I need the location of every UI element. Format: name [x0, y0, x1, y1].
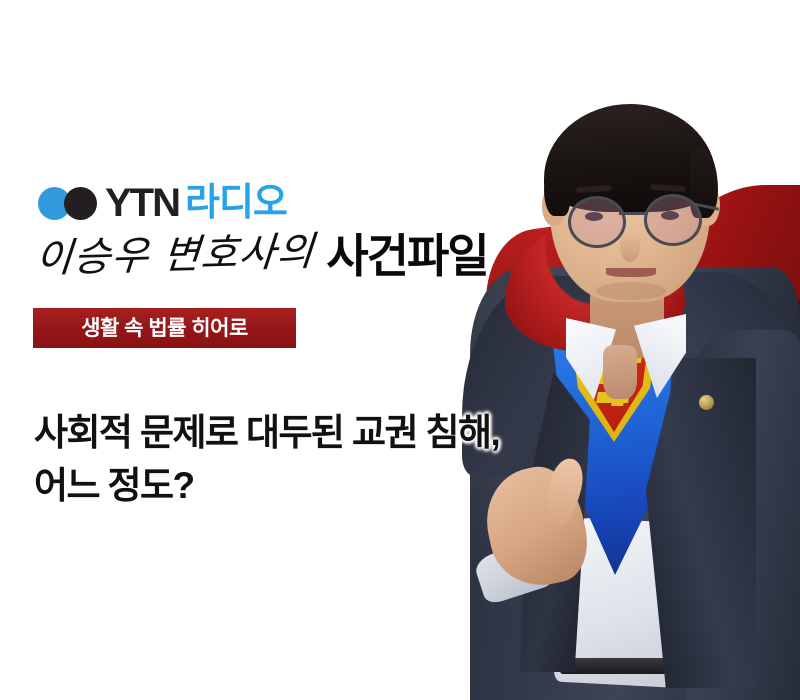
program-title-script: 이승우 변호사의: [34, 232, 316, 279]
tagline-badge-label: 생활 속 법률 히어로: [81, 318, 248, 339]
program-title: 이승우 변호사의 사건파일: [34, 233, 488, 279]
headline: 사회적 문제로 대두된 교권 침해, 어느 정도?: [34, 407, 554, 512]
logo-circle-dark-icon: [64, 187, 97, 220]
belt: [560, 658, 680, 674]
nose: [620, 232, 640, 262]
logo-wordmark-radio: 라디오: [185, 184, 287, 222]
tagline-badge: 생활 속 법률 히어로: [33, 308, 296, 348]
glasses-lens-left: [568, 196, 626, 248]
mouth: [606, 268, 656, 277]
glasses-bridge: [619, 212, 645, 215]
headline-line-2: 어느 정도?: [34, 460, 554, 513]
subject-photo: [400, 0, 800, 700]
hair-side-left: [544, 150, 570, 216]
lapel-pin: [699, 395, 714, 410]
logo-wordmark-ytn: YTN: [105, 183, 179, 223]
headline-line-1: 사회적 문제로 대두된 교권 침해,: [34, 407, 554, 460]
promo-card: YTN 라디오 이승우 변호사의 사건파일 생활 속 법률 히어로 사회적 문제…: [0, 0, 800, 700]
chin-shadow: [596, 282, 666, 300]
necktie: [603, 345, 637, 399]
ytn-radio-logo: YTN 라디오: [38, 183, 287, 223]
program-title-bold: 사건파일: [326, 233, 487, 279]
